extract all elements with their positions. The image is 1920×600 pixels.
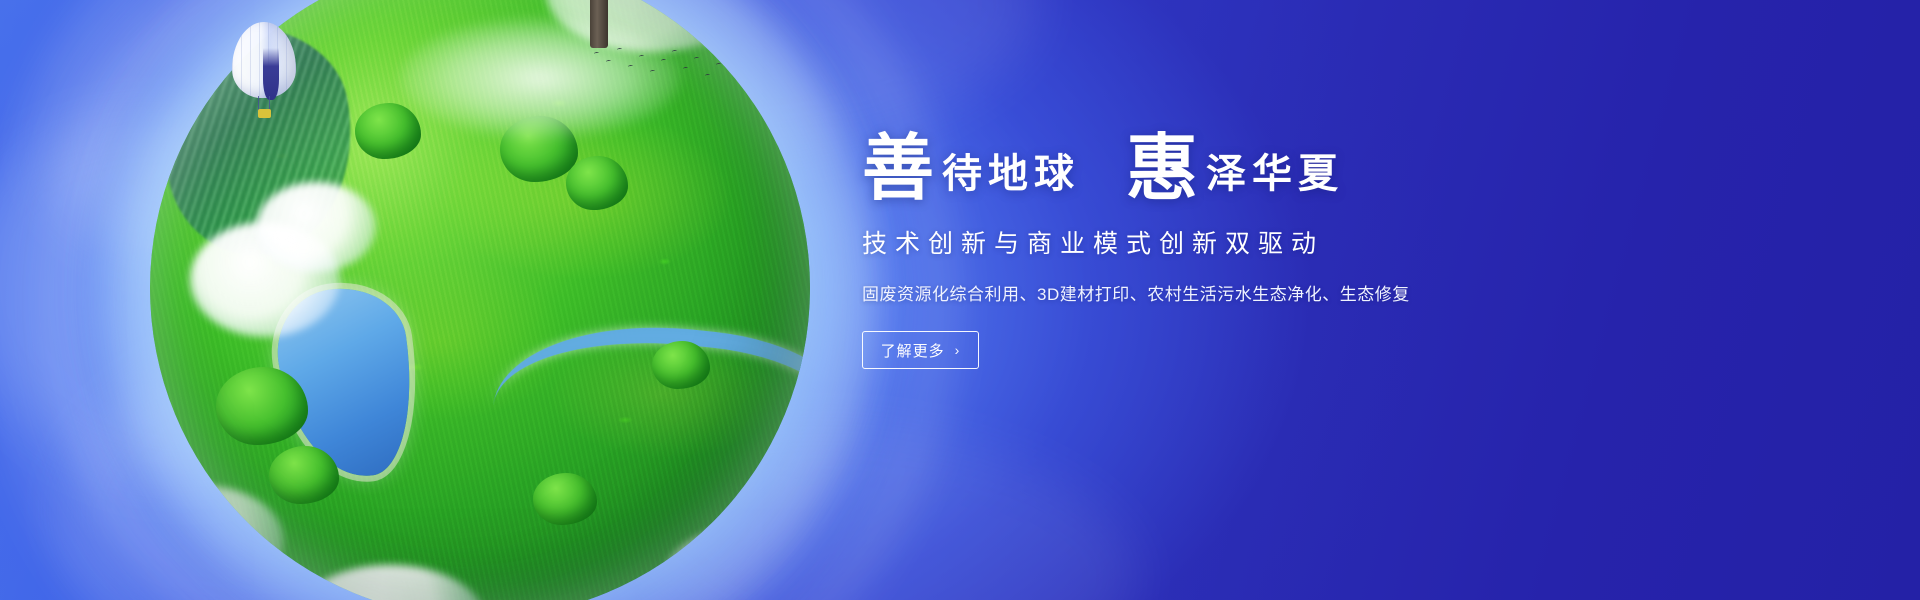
bird-icon xyxy=(683,67,688,71)
balloon-basket xyxy=(258,109,271,118)
bird-icon xyxy=(650,70,655,74)
tree-on-planet xyxy=(450,0,750,38)
tree-trunk xyxy=(590,0,608,48)
hot-air-balloon xyxy=(232,22,296,126)
tree-branch xyxy=(576,0,647,4)
learn-more-button[interactable]: 了解更多 › xyxy=(862,331,979,369)
balloon-envelope xyxy=(232,22,296,98)
headline-part1-small: 待地球 xyxy=(934,154,1080,194)
bird-icon xyxy=(639,55,644,59)
headline-part2-small: 泽华夏 xyxy=(1198,154,1344,194)
bird-icon xyxy=(661,59,666,63)
chevron-right-icon: › xyxy=(955,342,961,358)
balloon-stripe xyxy=(263,48,279,100)
learn-more-label: 了解更多 xyxy=(881,340,945,361)
bird-icon xyxy=(705,74,710,78)
bird-icon xyxy=(617,48,622,52)
banner-description: 固废资源化综合利用、3D建材打印、农村生活污水生态净化、生态修复 xyxy=(862,280,1562,305)
balloon-lines xyxy=(258,96,270,110)
hero-banner: 善 待地球 惠 泽华夏 技术创新与商业模式创新双驱动 固废资源化综合利用、3D建… xyxy=(0,0,1920,600)
headline-part1-big: 善 xyxy=(862,132,934,204)
headline-part2-big: 惠 xyxy=(1126,132,1198,204)
bird-icon xyxy=(716,63,721,67)
bird-icon xyxy=(606,60,611,64)
flock-of-birds xyxy=(590,46,730,90)
bird-icon xyxy=(628,65,633,69)
bird-icon xyxy=(694,57,699,61)
bird-icon xyxy=(672,50,677,54)
banner-content: 善 待地球 惠 泽华夏 技术创新与商业模式创新双驱动 固废资源化综合利用、3D建… xyxy=(862,128,1562,369)
banner-subtitle: 技术创新与商业模式创新双驱动 xyxy=(862,224,1562,260)
bird-icon xyxy=(594,52,599,56)
page-title: 善 待地球 惠 泽华夏 xyxy=(862,128,1562,200)
